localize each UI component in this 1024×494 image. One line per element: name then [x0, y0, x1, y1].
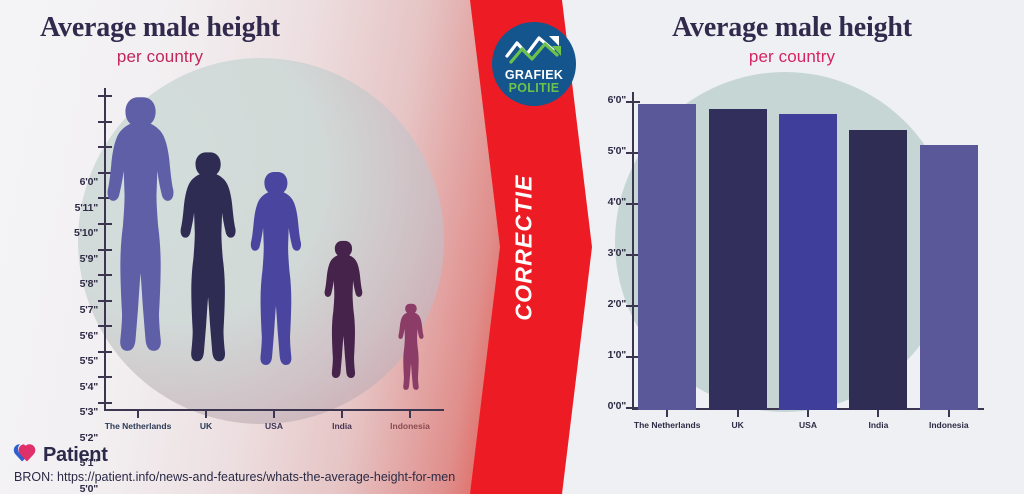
- left-y-tick-label: 6'0": [40, 176, 98, 188]
- left-x-label: USA: [265, 421, 283, 431]
- right-x-label: India: [868, 420, 888, 430]
- right-x-label: USA: [799, 420, 817, 430]
- heart-logo-icon: [12, 442, 36, 469]
- left-x-tick: [137, 409, 139, 418]
- left-y-tick-label: 5'6": [40, 330, 98, 342]
- left-y-tick-label: 5'5": [40, 355, 98, 367]
- left-x-tick: [205, 409, 207, 418]
- human-silhouette: [242, 168, 306, 410]
- infographic-root: Average male height per country 6'0"5'11…: [0, 0, 1024, 494]
- footer: Patient BRON: https://patient.info/news-…: [0, 438, 560, 494]
- left-y-axis-labels: 6'0"5'11"5'10"5'9"5'8"5'7"5'6"5'5"5'4"5'…: [38, 88, 98, 410]
- right-chart-subtitle: per country: [560, 47, 1024, 67]
- left-x-tick: [341, 409, 343, 418]
- left-y-tick-label: 5'8": [40, 278, 98, 290]
- right-x-label: The Netherlands: [634, 420, 701, 430]
- source-url: BRON: https://patient.info/news-and-feat…: [14, 470, 455, 484]
- left-y-tick-label: 5'4": [40, 381, 98, 393]
- left-x-label: India: [332, 421, 352, 431]
- left-x-label: UK: [200, 421, 212, 431]
- left-y-tick-label: 5'10": [40, 227, 98, 239]
- bar: [709, 109, 767, 410]
- bar: [849, 130, 907, 411]
- logo-line-2: POLITIE: [509, 82, 560, 95]
- left-x-tick: [273, 409, 275, 418]
- grafiekpolitie-logo: GRAFIEK POLITIE: [492, 22, 576, 106]
- correction-label: CORRECTIE: [510, 174, 537, 320]
- left-chart-title: Average male height: [0, 12, 440, 44]
- left-y-tick-label: 5'7": [40, 304, 98, 316]
- corrected-chart-panel: Average male height per country 0'0"1'0"…: [560, 0, 1024, 494]
- left-x-label: Indonesia: [390, 421, 430, 431]
- brand-name: Patient: [43, 444, 108, 467]
- left-y-tick-label: 5'3": [40, 406, 98, 418]
- patient-brand: Patient: [12, 442, 108, 469]
- left-x-label: The Netherlands: [105, 421, 172, 431]
- chart-arrow-icon: [505, 34, 563, 71]
- human-silhouette: [171, 148, 241, 410]
- human-silhouette: [394, 302, 426, 410]
- right-chart-title: Average male height: [560, 12, 1024, 44]
- bar: [779, 114, 837, 410]
- left-x-tick: [409, 409, 411, 418]
- right-x-label: UK: [731, 420, 743, 430]
- left-chart-subtitle: per country: [0, 47, 440, 67]
- left-y-tick-label: 5'9": [40, 253, 98, 265]
- bar: [920, 145, 978, 410]
- bar-series: [632, 92, 984, 410]
- right-x-label: Indonesia: [929, 420, 969, 430]
- human-silhouette: [318, 238, 366, 410]
- left-y-tick-label: 5'11": [40, 202, 98, 214]
- human-silhouette-group: [104, 88, 444, 410]
- human-silhouette: [96, 92, 180, 410]
- bar: [638, 104, 696, 410]
